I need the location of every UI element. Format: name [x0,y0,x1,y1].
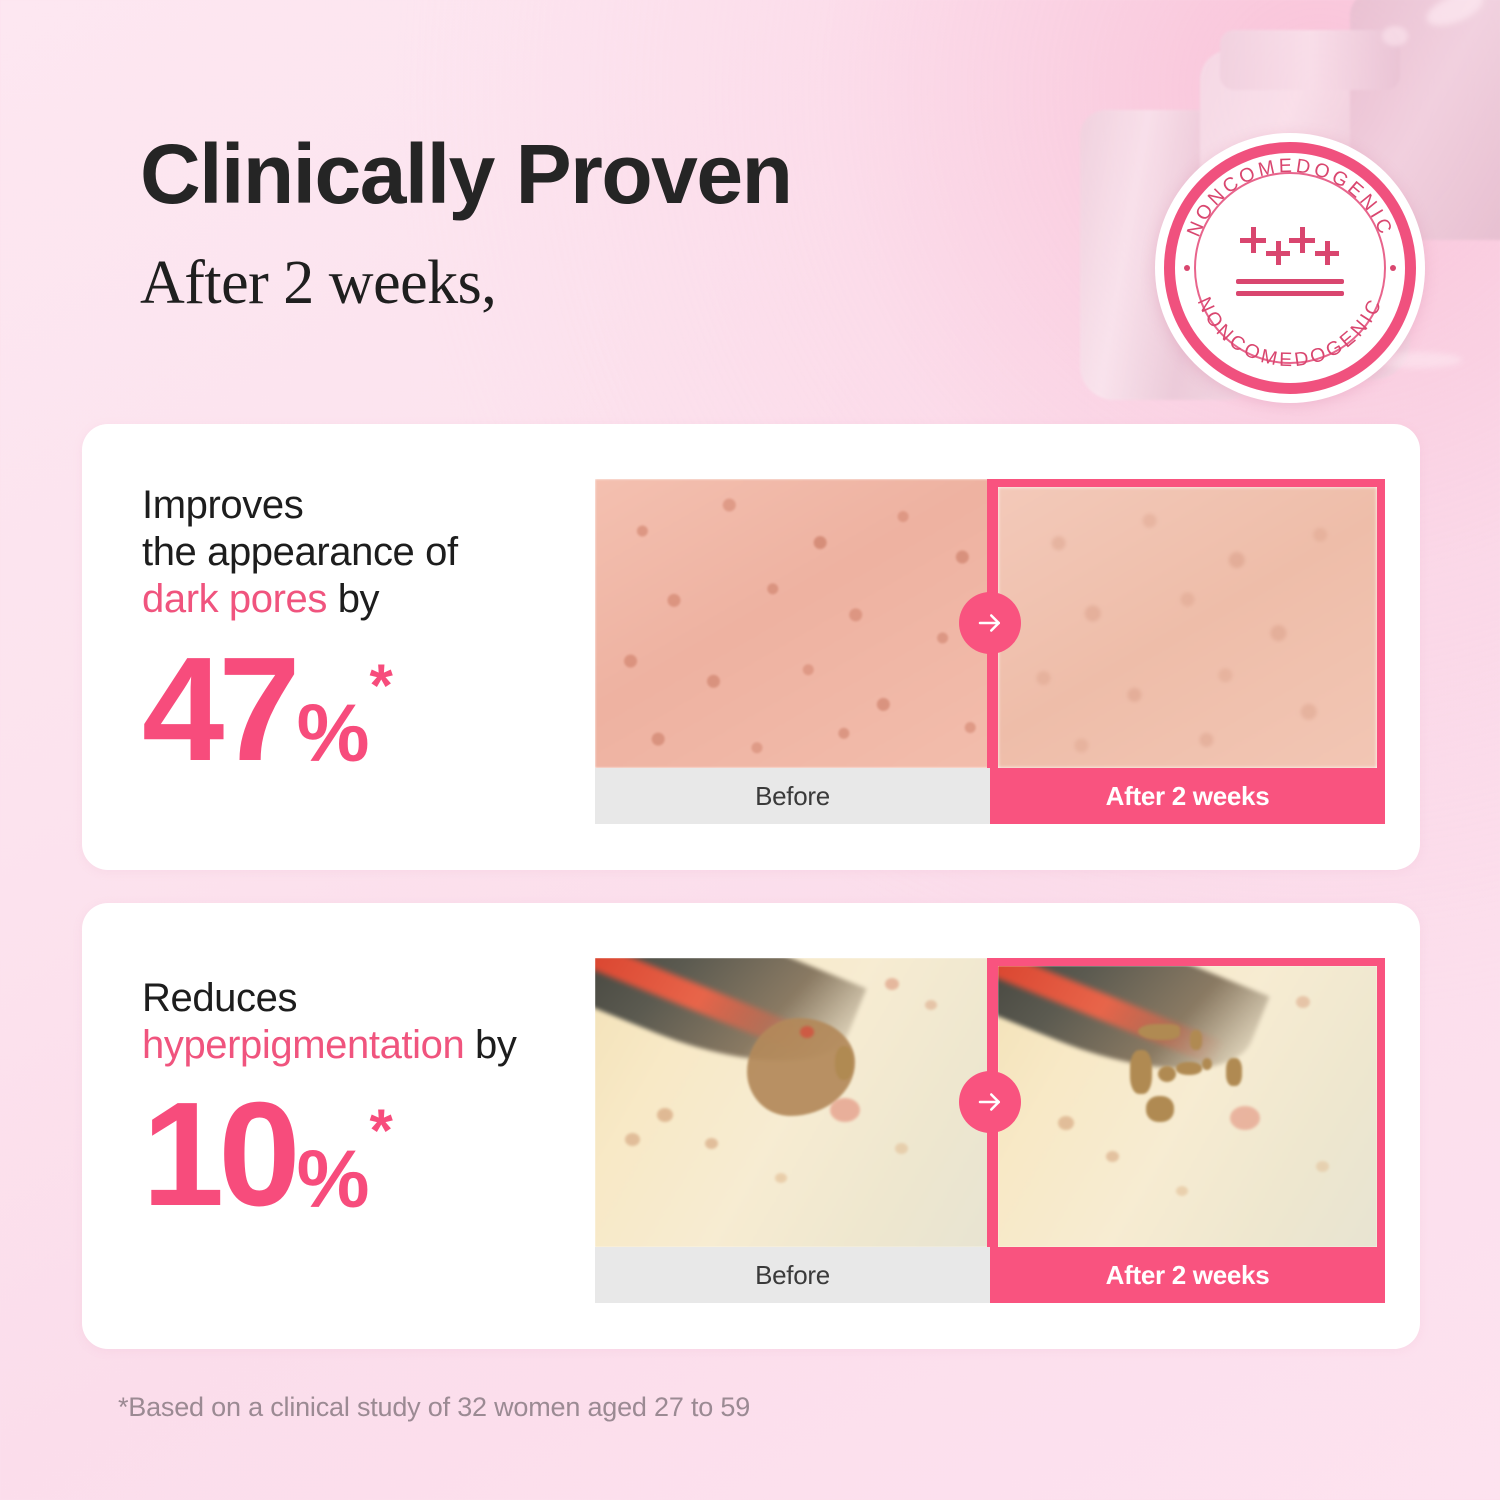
study-footnote: *Based on a clinical study of 32 women a… [118,1392,750,1423]
photo-highlight [1422,0,1487,32]
photo-highlight [1382,26,1408,46]
product-jar-lid [1220,30,1400,90]
claim-accent-term: dark pores [142,577,327,621]
claim-line-accent: hyperpigmentation by [142,1022,516,1069]
after-photo-hyperpigmentation [998,966,1377,1247]
after-label: After 2 weeks [990,768,1385,824]
claim-text-block: Reduces hyperpigmentation by 10 % * [142,975,516,1224]
claim-line: Reduces [142,975,516,1022]
before-photo-dark-pores [595,479,990,768]
arrow-right-icon [959,1071,1021,1133]
claim-line: the appearance of [142,529,458,576]
after-side: After 2 weeks [990,479,1385,824]
after-label: After 2 weeks [990,1247,1385,1303]
page-subtitle: After 2 weeks, [140,252,1020,314]
header: Clinically Proven After 2 weeks, [140,132,1020,314]
stat-percent-sign: % [297,696,368,771]
claim-line: Improves [142,482,458,529]
before-side: Before [595,479,990,824]
claim-accent-suffix: by [327,577,379,621]
before-label: Before [595,768,990,824]
stat-value: 47 % * [142,642,458,778]
stat-asterisk: * [370,1103,393,1158]
before-side: Before [595,958,990,1303]
before-label: Before [595,1247,990,1303]
before-after-comparison: Before After 2 weeks [595,479,1385,824]
arrow-right-icon [959,592,1021,654]
claim-card-hyperpigmentation: Reduces hyperpigmentation by 10 % * [82,903,1420,1349]
sparkle-skin-icon [1230,225,1350,311]
claim-accent-suffix: by [464,1023,516,1067]
after-side: After 2 weeks [990,958,1385,1303]
stat-asterisk: * [370,658,393,713]
stat-value: 10 % * [142,1087,516,1223]
page-title: Clinically Proven [140,132,1020,216]
stat-number: 10 [142,1087,295,1223]
claim-card-dark-pores: Improves the appearance of dark pores by… [82,424,1420,870]
after-photo-dark-pores [998,487,1377,768]
claim-text-block: Improves the appearance of dark pores by… [142,482,458,778]
stat-number: 47 [142,642,295,778]
stat-percent-sign: % [297,1142,368,1217]
before-photo-hyperpigmentation [595,958,990,1247]
claim-line-accent: dark pores by [142,576,458,623]
claim-accent-term: hyperpigmentation [142,1023,464,1067]
before-after-comparison: Before [595,958,1385,1303]
noncomedogenic-badge: NONCOMEDOGENIC NONCOMEDOGENIC [1155,133,1425,403]
